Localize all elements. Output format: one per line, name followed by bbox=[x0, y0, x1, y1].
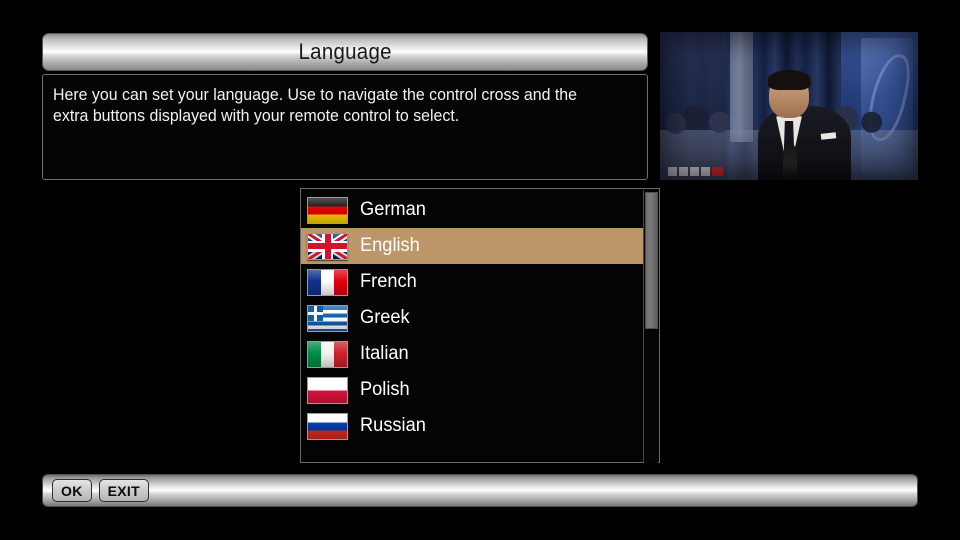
list-item-label: English bbox=[360, 235, 420, 257]
ok-button[interactable]: OK bbox=[52, 479, 92, 502]
list-item-label: Polish bbox=[360, 379, 410, 401]
preview-vignette bbox=[660, 32, 918, 180]
list-item[interactable]: German bbox=[301, 192, 645, 228]
list-item[interactable]: English bbox=[301, 228, 645, 264]
list-item-label: German bbox=[360, 199, 426, 221]
list-item[interactable]: Polish bbox=[301, 372, 645, 408]
scrollbar-thumb[interactable] bbox=[645, 192, 658, 329]
list-item-label: Greek bbox=[360, 307, 410, 329]
live-tv-preview[interactable] bbox=[660, 32, 918, 180]
description-text: Here you can set your language. Use to n… bbox=[53, 85, 615, 127]
bottom-action-bar: OK EXIT bbox=[42, 474, 918, 507]
list-item[interactable]: French bbox=[301, 264, 645, 300]
flag-france-icon bbox=[307, 269, 348, 296]
description-panel: Here you can set your language. Use to n… bbox=[42, 74, 648, 180]
language-list: German English French Greek bbox=[301, 192, 645, 444]
page-title: Language bbox=[298, 41, 391, 63]
window-title-bar: Language bbox=[42, 33, 648, 71]
exit-button[interactable]: EXIT bbox=[99, 479, 149, 502]
list-item[interactable]: Russian bbox=[301, 408, 645, 444]
flag-italy-icon bbox=[307, 341, 348, 368]
flag-russia-icon bbox=[307, 413, 348, 440]
list-item[interactable]: Greek bbox=[301, 300, 645, 336]
list-item[interactable]: Italian bbox=[301, 336, 645, 372]
list-item-label: Russian bbox=[360, 415, 426, 437]
flag-united-kingdom-icon bbox=[307, 233, 348, 260]
list-item-label: Italian bbox=[360, 343, 409, 365]
language-list-scrollbar[interactable] bbox=[643, 190, 658, 463]
flag-poland-icon bbox=[307, 377, 348, 404]
language-list-panel: German English French Greek bbox=[300, 188, 660, 463]
flag-greece-icon bbox=[307, 305, 348, 332]
flag-germany-icon bbox=[307, 197, 348, 224]
list-item-label: French bbox=[360, 271, 417, 293]
